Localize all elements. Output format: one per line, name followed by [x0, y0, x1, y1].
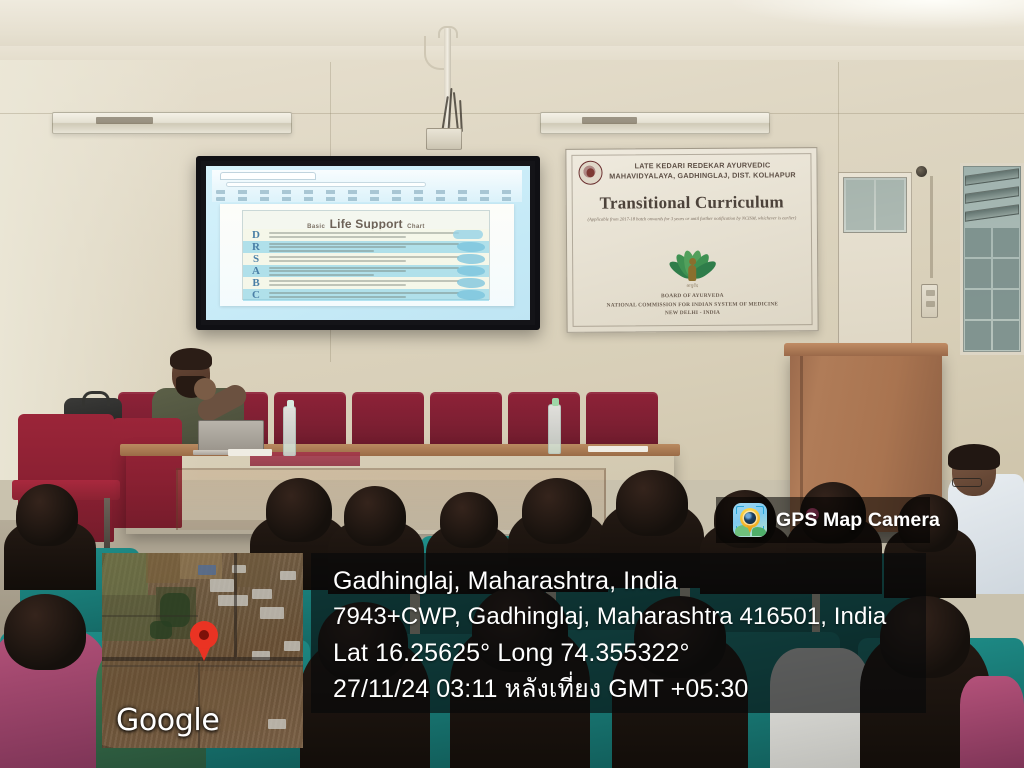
emblem-caption: आयुर्वेद [656, 283, 728, 290]
door-glass-panes [843, 177, 907, 233]
browser-chrome [212, 170, 522, 202]
photo-canvas: Basic Life Support Chart D R [0, 0, 1024, 768]
wall-banner: LATE KEDARI REDEKAR AYURVEDIC MAHAVIDYAL… [565, 147, 818, 333]
chart-row-illustration [457, 290, 485, 300]
paper-sheet [228, 449, 272, 456]
chart-row-letter: D [243, 230, 269, 241]
audience-head [440, 492, 498, 548]
chart-row: D [243, 229, 489, 241]
banner-title: Transitional Curriculum [580, 192, 804, 214]
browser-toolbar-row [216, 197, 518, 201]
location-timestamp-label: 27/11/24 03:11 หลังเที่ยง GMT +05:30 [333, 671, 926, 707]
ceiling-tube-light [52, 112, 292, 134]
chart-row-text [269, 265, 489, 277]
ceiling-light-glow [724, 0, 1024, 30]
chart-row-letter: C [243, 290, 269, 301]
gps-map-camera-icon [733, 503, 767, 537]
light-switch-plate[interactable] [921, 284, 938, 318]
wall-window [960, 163, 1024, 355]
chart-row-letter: B [243, 278, 269, 289]
ayurveda-emblem-icon: आयुर्वेद [656, 229, 728, 288]
ceiling-tube-light [540, 112, 770, 134]
banner-inner-border: LATE KEDARI REDEKAR AYURVEDIC MAHAVIDYAL… [571, 153, 812, 327]
chart-row-illustration [457, 242, 485, 252]
stage-chair [430, 392, 502, 446]
stage-chair [352, 392, 424, 446]
google-watermark: Google [116, 703, 219, 738]
banner-footer-line3: NEW DELHI - INDIA [580, 308, 804, 318]
water-bottle [548, 404, 561, 454]
chart-row-text [269, 279, 489, 288]
document-sheet: Basic Life Support Chart D R [220, 204, 514, 306]
chart-row-letter: R [243, 242, 269, 253]
chart-row-text [269, 241, 489, 253]
map-thumbnail[interactable]: Google [102, 553, 303, 748]
laptop [198, 420, 264, 452]
chart-row-illustration [457, 254, 485, 264]
chart-row-text [269, 291, 489, 300]
audience-head [522, 478, 592, 544]
browser-bookmarks-row [216, 190, 518, 194]
speaker-hair [170, 348, 212, 370]
chart-row-illustration [457, 278, 485, 288]
chart-row: C [243, 289, 489, 301]
banner-subtitle: (Applicable from 2017-18 batch onwards f… [580, 214, 804, 223]
chart-row-letter: A [243, 266, 269, 277]
room-photograph: Basic Life Support Chart D R [0, 0, 1024, 768]
stage-chair [586, 392, 658, 446]
map-land-shape [752, 527, 766, 536]
stage-chair [508, 392, 580, 446]
banner-header-line2: MAHAVIDYALAYA, GADHINGLAJ, DIST. KOLHAPU… [580, 171, 804, 183]
audience-person-front [960, 676, 1024, 768]
audience-head [4, 594, 86, 670]
projector-mount-bracket [426, 128, 462, 150]
window-panes [965, 228, 1019, 350]
map-pin-icon [190, 621, 218, 649]
location-coordinates-label: Lat 16.25625° Long 74.355322° [333, 635, 926, 671]
wall-conduit [930, 176, 933, 278]
presentation-display: Basic Life Support Chart D R [196, 156, 540, 330]
life-support-chart: Basic Life Support Chart D R [242, 210, 490, 300]
camera-lens-icon [744, 512, 756, 524]
paper-sheet [588, 446, 648, 452]
chart-row: R [243, 241, 489, 253]
location-address-label: 7943+CWP, Gadhinglaj, Maharashtra 416501… [333, 599, 926, 635]
browser-address-bar [226, 182, 426, 187]
audience-head [16, 484, 78, 546]
chart-row-letter: S [243, 254, 269, 265]
gps-map-camera-badge: GPS Map Camera [716, 497, 930, 543]
wall-seam [838, 62, 839, 182]
audience-head [616, 470, 688, 536]
chart-row-text [269, 255, 489, 264]
chart-row: S [243, 253, 489, 265]
audience-head [344, 486, 406, 546]
speaker-hand [194, 378, 216, 400]
location-info-panel: Gadhinglaj, Maharashtra, India 7943+CWP,… [311, 553, 926, 713]
location-place-label: Gadhinglaj, Maharashtra, India [333, 563, 926, 599]
wall-fixture [916, 166, 927, 177]
chart-row: A [243, 265, 489, 277]
chart-row-illustration [457, 266, 485, 276]
chart-row-list: D R S [243, 229, 489, 297]
chart-row-badge [453, 230, 483, 239]
browser-tab [220, 172, 316, 180]
chart-row: B [243, 277, 489, 289]
water-bottle [283, 406, 296, 456]
podium-top [784, 343, 948, 356]
display-screen: Basic Life Support Chart D R [206, 166, 530, 320]
app-name-label: GPS Map Camera [776, 509, 940, 532]
audience-head [266, 478, 332, 542]
institution-logo-icon [578, 161, 602, 185]
